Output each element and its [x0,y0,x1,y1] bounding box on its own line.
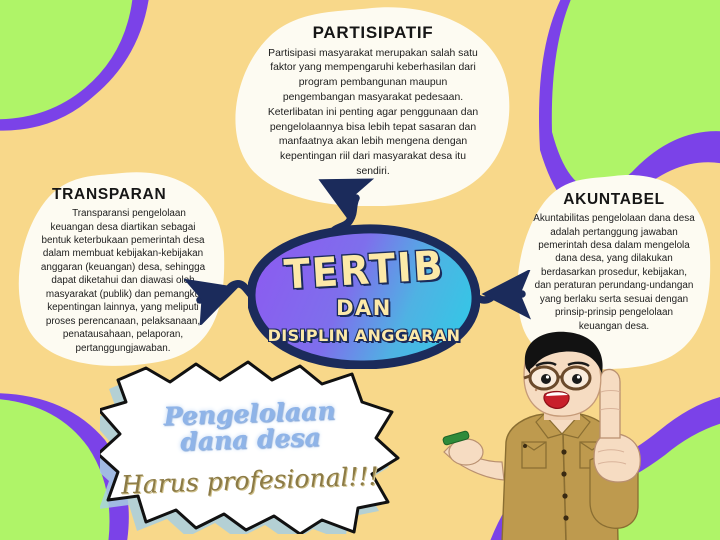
card-partisipatif-body: Partisipasi masyarakat merupakan salah s… [262,47,484,180]
shirt-button-1 [561,449,566,454]
character-eye-right [572,374,582,384]
card-transparan: TRANSPARAN Transparansi pengelolaan keua… [18,172,226,368]
character-index-finger [600,370,620,439]
glasses-temple [524,376,530,378]
village-officer-character [440,330,720,540]
infographic-poster: PARTISIPATIF Partisipasi masyarakat meru… [0,0,720,540]
starburst-callout: Pengelolaan dana desa Harus profesional!… [100,358,400,534]
green-blob-top-left [0,0,134,119]
character-fist [594,434,640,482]
pocket-button-left [523,444,527,448]
green-blob-top-right [552,0,720,190]
card-akuntabel-title: AKUNTABEL [532,191,696,208]
eye-highlight-left [546,375,549,378]
card-partisipatif-title: PARTISIPATIF [262,24,484,43]
shirt-button-2 [561,471,566,476]
eye-highlight-right [577,375,580,378]
character-eye-left [541,374,551,384]
card-transparan-body: Transparansi pengelolaan keuangan desa d… [38,207,208,355]
card-transparan-title: TRANSPARAN [52,186,208,203]
card-partisipatif: PARTISIPATIF Partisipasi masyarakat meru… [232,6,514,206]
starburst-shape [100,358,400,534]
card-akuntabel-body: Akuntabilitas pengelolaan dana desa adal… [532,212,696,333]
purple-blob-top-left [0,0,151,131]
character-mole [535,389,537,391]
shirt-button-3 [562,493,567,498]
green-blob-bottom-left [0,398,110,540]
shirt-button-4 [563,515,568,520]
